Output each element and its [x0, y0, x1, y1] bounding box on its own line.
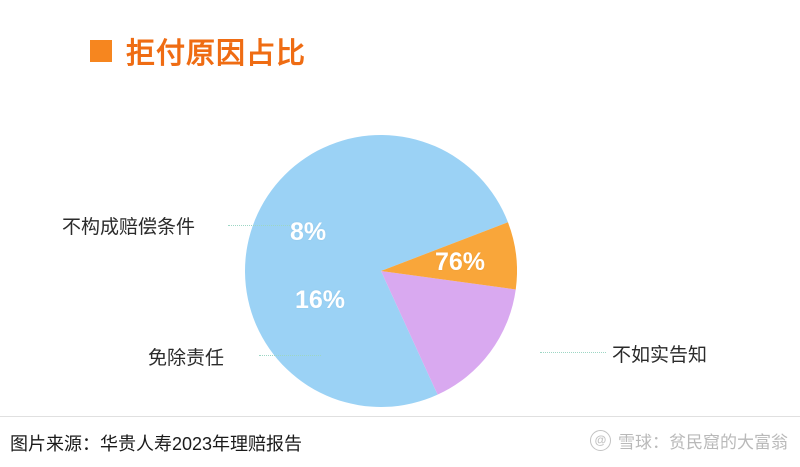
pie-category-label-2: 不构成赔偿条件: [62, 212, 195, 239]
watermark-label: 雪球：贫民窟的大富翁: [618, 428, 788, 453]
watermark: @ 雪球：贫民窟的大富翁: [590, 428, 788, 453]
leader-line-1: [259, 355, 321, 356]
leader-line-2: [228, 225, 290, 226]
pie-category-label-1: 免除责任: [148, 343, 224, 370]
footer-divider: [0, 416, 800, 417]
leader-line-0: [540, 352, 606, 353]
pie-chart: 76% 16% 8% 不如实告知 免除责任 不构成赔偿条件: [0, 0, 800, 467]
pie-value-label-1: 16%: [295, 286, 345, 315]
pie-value-label-2: 8%: [290, 218, 326, 247]
snowball-logo-icon: @: [590, 430, 611, 451]
source-caption: 图片来源：华贵人寿2023年理赔报告: [10, 430, 302, 456]
pie-value-label-0: 76%: [435, 248, 485, 277]
pie-category-label-0: 不如实告知: [612, 340, 707, 367]
